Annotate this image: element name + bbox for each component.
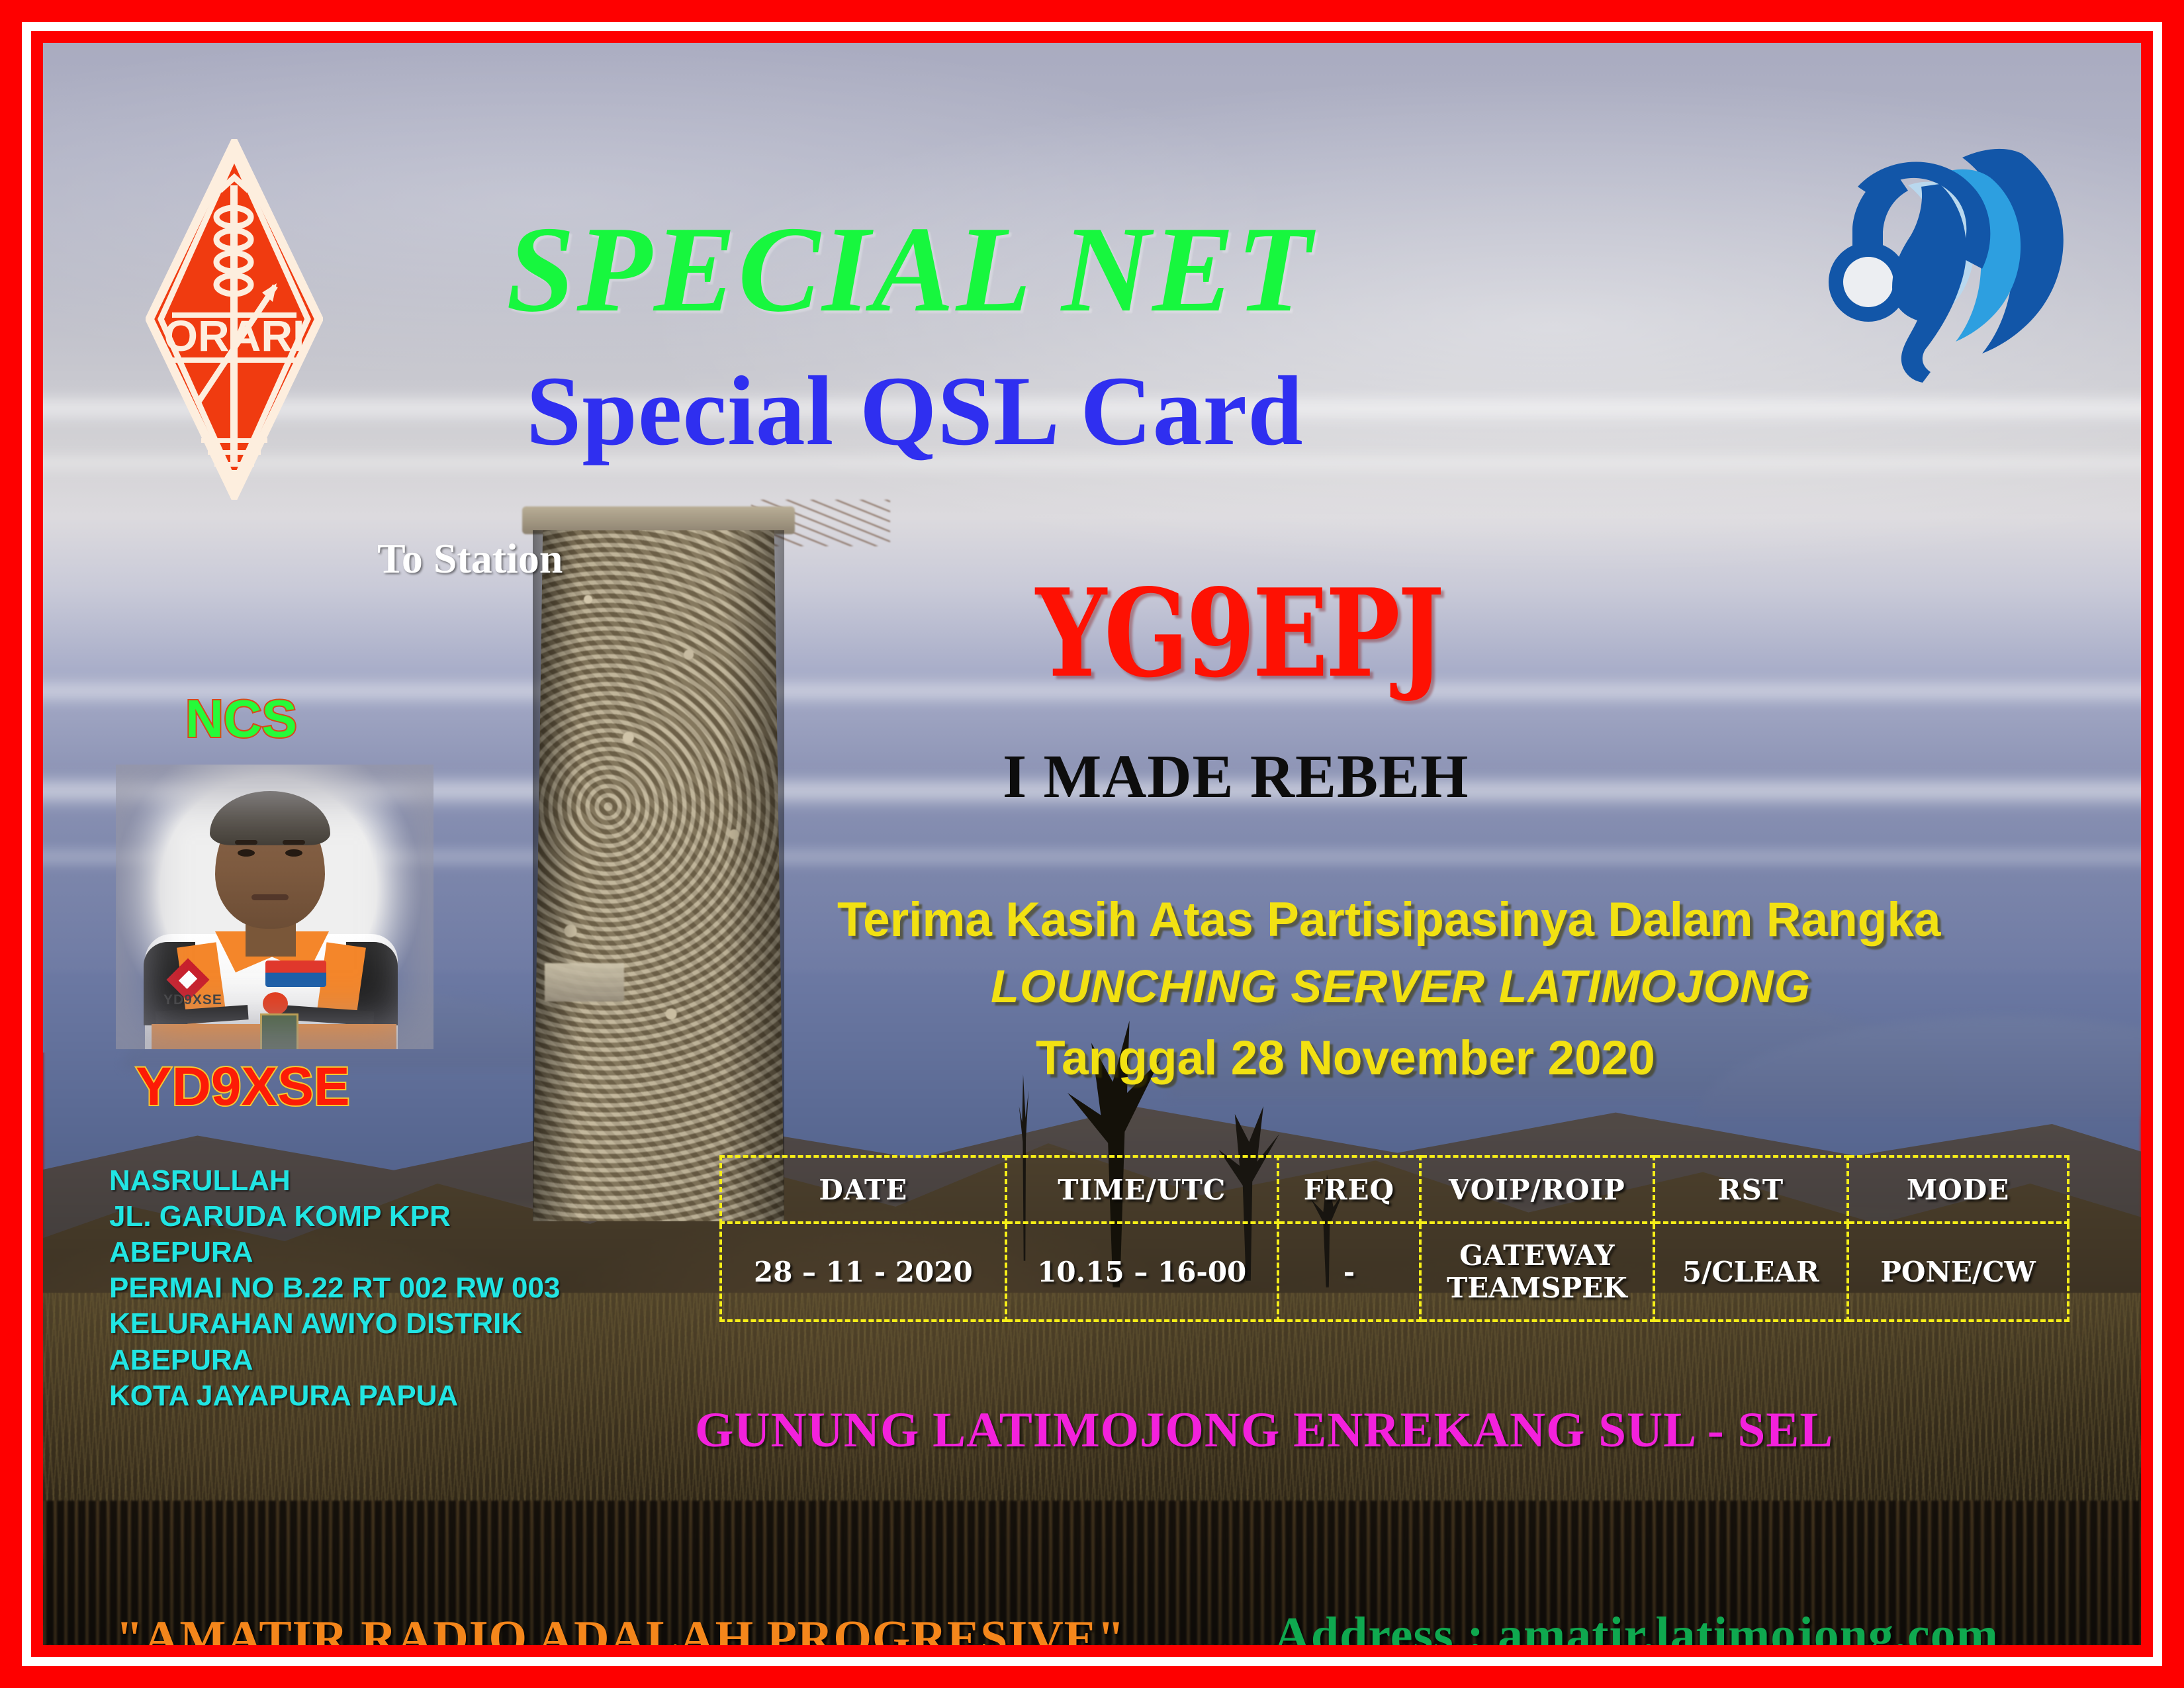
- frame-inner-red-band: ORARI: [31, 31, 2153, 1657]
- column-header-time: TIME/UTC: [1006, 1156, 1278, 1223]
- address-line: KOTA JAYAPURA PAPUA: [109, 1378, 560, 1414]
- cell-rst: 5/CLEAR: [1654, 1223, 1848, 1321]
- thanks-line-2-event: LOUNCHING SERVER LATIMOJONG: [991, 960, 1811, 1013]
- address-line: NASRULLAH: [109, 1163, 560, 1199]
- orari-logo-text: ORARI: [164, 311, 305, 360]
- to-station-label: To Station: [377, 534, 563, 583]
- column-header-voip: VOIP/ROIP: [1420, 1156, 1653, 1223]
- operator-portrait-photo: YD9XSE: [116, 765, 433, 1049]
- cell-freq: -: [1278, 1223, 1420, 1321]
- ncs-callsign: YD9XSE: [136, 1056, 350, 1118]
- address-line: KELURAHAN AWIYO DISTRIK: [109, 1306, 560, 1342]
- frame-white-gap: ORARI: [22, 22, 2162, 1666]
- subtitle-special-qsl-card: Special QSL Card: [526, 354, 1304, 468]
- slogan-text: "AMATIR RADIO ADALAH PROGRESIVE": [116, 1611, 1125, 1645]
- operator-name: I MADE REBEH: [1003, 741, 1469, 812]
- card-content-overlay: ORARI: [43, 43, 2141, 1645]
- orari-diamond-logo: ORARI: [146, 139, 323, 500]
- thanks-line-1: Terima Kasih Atas Partisipasinya Dalam R…: [837, 892, 1941, 947]
- card-photo-area: ORARI: [43, 43, 2141, 1645]
- column-header-freq: FREQ: [1278, 1156, 1420, 1223]
- cell-voip-line-2: TEAMSPEK: [1424, 1272, 1649, 1304]
- page-title-special-net: SPECIAL NET: [506, 199, 1314, 340]
- cell-date: 28 – 11 - 2020: [721, 1223, 1006, 1321]
- cell-voip-line-1: GATEWAY: [1424, 1239, 1649, 1272]
- column-header-date: DATE: [721, 1156, 1006, 1223]
- qso-log-table: DATE TIME/UTC FREQ VOIP/ROIP RST MODE 28…: [719, 1155, 2070, 1322]
- location-line: GUNUNG LATIMOJONG ENREKANG SUL - SEL: [695, 1402, 1833, 1459]
- column-header-mode: MODE: [1848, 1156, 2068, 1223]
- thanks-line-3-date: Tanggal 28 November 2020: [1036, 1031, 1655, 1086]
- cell-time: 10.15 – 16-00: [1006, 1223, 1278, 1321]
- address-line: ABEPURA: [109, 1235, 560, 1270]
- table-row: 28 – 11 - 2020 10.15 – 16-00 - GATEWAY T…: [721, 1223, 2068, 1321]
- ncs-role-label: NCS: [185, 688, 297, 749]
- mailing-address-block: NASRULLAH JL. GARUDA KOMP KPR ABEPURA PE…: [109, 1163, 560, 1414]
- address-line: PERMAI NO B.22 RT 002 RW 003: [109, 1270, 560, 1306]
- column-header-rst: RST: [1654, 1156, 1848, 1223]
- address-line: JL. GARUDA KOMP KPR: [109, 1199, 560, 1235]
- station-callsign: YG9EPJ: [1036, 563, 1442, 705]
- table-header-row: DATE TIME/UTC FREQ VOIP/ROIP RST MODE: [721, 1156, 2068, 1223]
- cell-mode: PONE/CW: [1848, 1223, 2068, 1321]
- website-address-text: Address : amatir.latimojong.com: [1274, 1607, 1999, 1645]
- address-line: ABEPURA: [109, 1342, 560, 1378]
- cell-voip: GATEWAY TEAMSPEK: [1420, 1223, 1653, 1321]
- qsl-card-frame: ORARI: [0, 0, 2184, 1688]
- portrait-vignette: [116, 765, 433, 1049]
- headset-profile-waves-logo: [1823, 126, 2088, 391]
